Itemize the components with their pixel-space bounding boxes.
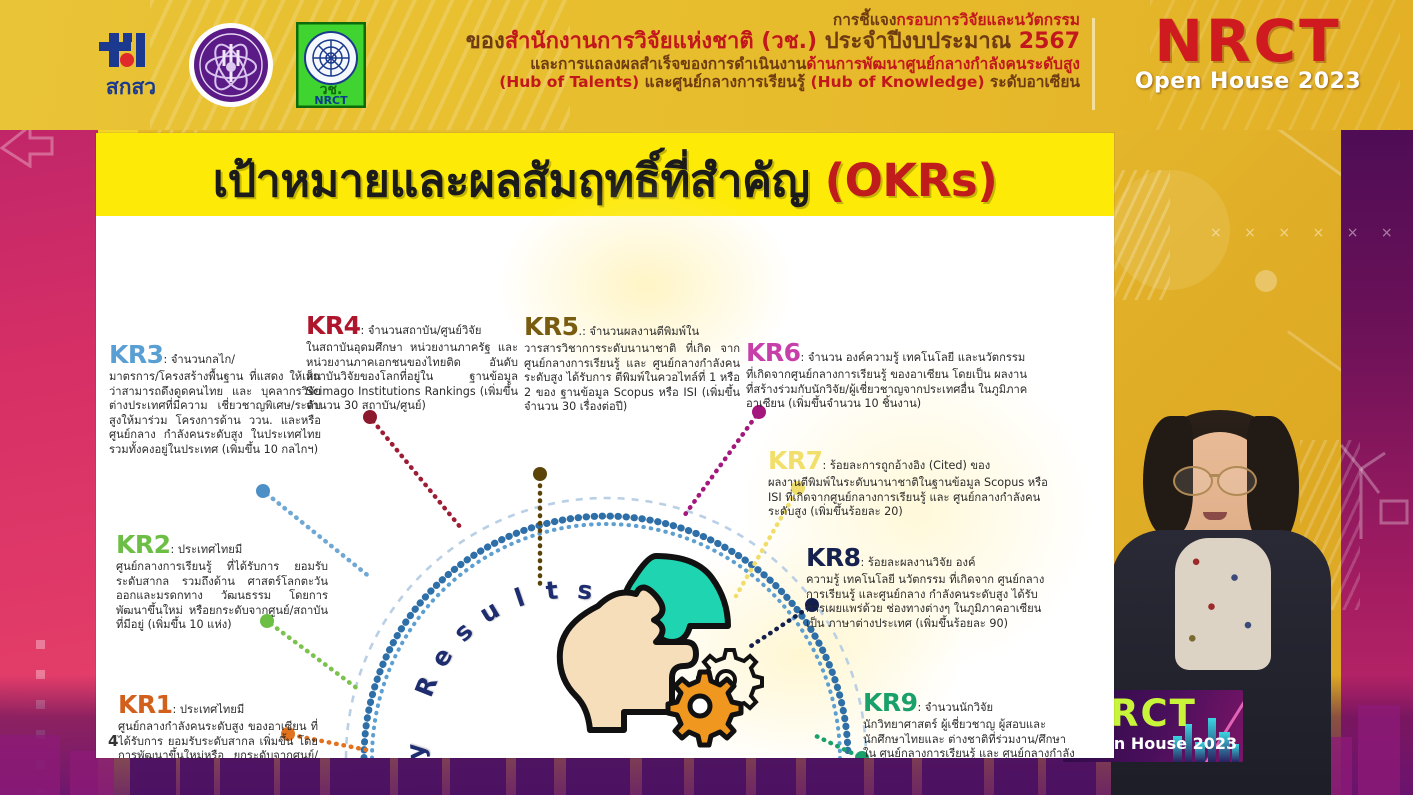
kr4-lead: : จำนวนสถาบัน/ศูนย์วิจัย (361, 324, 482, 337)
key-results-graphic: Key Results (426, 516, 786, 758)
kr-block-kr8: KR8: ร้อยละผลงานวิจัย องค์ ความรู้ เทคโน… (806, 543, 1046, 631)
header-line3-plain: และการแถลงผลสำเร็จของการดำเนินงาน (530, 55, 806, 73)
kr-block-kr9: KR9: จำนวนนักวิจัย นักวิทยาศาสตร์ ผู้เชี… (863, 688, 1078, 758)
header-line2-plain: ของ (466, 29, 505, 54)
kr3-tag: KR3 (109, 340, 164, 369)
kr9-lead: : จำนวนนักวิจัย (918, 701, 994, 714)
header-line4-red2: (Hub of Knowledge) (811, 73, 985, 91)
header-line1-plain: การชี้แจง (833, 11, 897, 29)
header-title-block: การชี้แจงกรอบการวิจัยและนวัตกรรม ของสำนั… (420, 11, 1080, 91)
nrct-brand-main: NRCT (1098, 14, 1398, 69)
decor-x-row: × × × × × × (1210, 225, 1402, 241)
presenter-glasses-right (1217, 466, 1257, 496)
header-line-1: การชี้แจงกรอบการวิจัยและนวัตกรรม (420, 11, 1080, 29)
kr9-body: นักวิทยาศาสตร์ ผู้เชี่ยวชาญ ผู้สอบและนัก… (863, 718, 1078, 758)
kr-block-kr3: KR3: จำนวนกลไก/ มาตรการ/โครงสร้างพื้นฐาน… (109, 340, 321, 457)
header-line-3: และการแถลงผลสำเร็จของการดำเนินงานด้านการ… (420, 55, 1080, 73)
kr9-tag: KR9 (863, 688, 918, 717)
gear-icon (668, 672, 741, 745)
header-line4-red: (Hub of Talents) (499, 73, 639, 91)
presenter-glasses-left (1173, 466, 1213, 496)
nrct-seal-logo (188, 22, 274, 112)
presenter-scarf (1175, 538, 1271, 670)
kr5-body: วารสารวิชาการระดับนานาชาติ ที่เกิด จากศู… (524, 342, 740, 415)
header-line2-red: สำนักงานการวิจัยแห่งชาติ (วช.) (505, 29, 817, 54)
header-line4-plain: และศูนย์กลางการเรียนรู้ (639, 73, 810, 91)
kr7-lead: : ร้อยละการถูกอ้างอิง (Cited) ของ (823, 459, 991, 472)
key-results-letter: u (474, 595, 504, 629)
kr1-lead: : ประเทศไทยมี (173, 703, 245, 716)
kr6-lead: : จำนวน องค์ความรู้ เทคโนโลยี และนวัตกรร… (801, 351, 1026, 364)
header-line-4: (Hub of Talents) และศูนย์กลางการเรียนรู้… (420, 73, 1080, 91)
header-line4-plain2: ระดับอาเซียน (985, 73, 1080, 91)
kr3-lead: : จำนวนกลไก/ (164, 353, 236, 366)
kr8-tag: KR8 (806, 543, 861, 572)
key-results-letter: e (425, 642, 459, 672)
svg-text:NRCT: NRCT (314, 94, 348, 107)
kr-block-kr2: KR2: ประเทศไทยมี ศูนย์กลางการเรียนรู้ ที… (116, 530, 328, 633)
kr7-tag: KR7 (768, 446, 823, 475)
tsri-logo: สกสว (96, 29, 166, 105)
header-nrct-brand: NRCT Open House 2023 (1098, 14, 1398, 94)
kr1-body: ศูนย์กลางกำลังคนระดับสูง ของอาเซียน ที่ไ… (118, 720, 318, 758)
decor-circle (1255, 270, 1277, 292)
kr-block-kr6: KR6: จำนวน องค์ความรู้ เทคโนโลยี และนวัต… (746, 338, 1031, 412)
kr3-body: มาตรการ/โครงสร้างพื้นฐาน ที่แสดง ให้เห็น… (109, 370, 321, 457)
page-number: 4 (108, 732, 118, 750)
kr-block-kr7: KR7: ร้อยละการถูกอ้างอิง (Cited) ของ ผลง… (768, 446, 1064, 520)
kr-block-kr4: KR4: จำนวนสถาบัน/ศูนย์วิจัย ในสถาบันอุดม… (306, 311, 518, 414)
kr7-body: ผลงานตีพิมพ์ในระดับนานาชาติในฐานข้อมูล S… (768, 476, 1064, 520)
slide-content: KR3: จำนวนกลไก/ มาตรการ/โครงสร้างพื้นฐาน… (96, 216, 1114, 758)
svg-text:สกสว: สกสว (106, 75, 156, 99)
broadcast-screen: × × × × × × (0, 0, 1413, 795)
header-line-2: ของสำนักงานการวิจัยแห่งชาติ (วช.) ประจำป… (420, 29, 1080, 55)
nrct-brand-sub: Open House 2023 (1098, 69, 1398, 94)
header-line3-red: ด้านการพัฒนาศูนย์กลางกำลังคนระดับสูง (806, 55, 1080, 73)
header-line1-red: กรอบการวิจัยและนวัตกรรม (896, 11, 1080, 29)
key-results-letter: y (401, 743, 431, 758)
kr2-lead: : ประเทศไทยมี (171, 543, 243, 556)
kr6-tag: KR6 (746, 338, 801, 367)
kr1-tag: KR1 (118, 690, 173, 719)
presentation-slide: เป้าหมายและผลสัมฤทธิ์ที่สำคัญ (OKRs) (96, 133, 1114, 758)
header-line2-year: 2567 (1019, 29, 1080, 54)
header-logo-group: สกสว (96, 22, 366, 112)
header-line2-plain2: ประจำปีงบประมาณ (817, 29, 1019, 54)
kr5-tag: KR5 (524, 312, 579, 341)
nrct-green-logo: วช. NRCT (296, 22, 366, 112)
slide-title-okr: (OKRs) (825, 154, 998, 207)
kr4-tag: KR4 (306, 311, 361, 340)
kr-block-kr5: KR5.: จำนวนผลงานตีพิมพ์ใน วารสารวิชาการร… (524, 312, 740, 415)
kr4-body: ในสถาบันอุดมศึกษา หน่วยงานภาครัฐ และหน่ว… (306, 341, 518, 414)
kr6-body: ที่เกิดจากศูนย์กลางการเรียนรู้ ของอาเซีย… (746, 368, 1031, 412)
kr2-tag: KR2 (116, 530, 171, 559)
kr8-lead: : ร้อยละผลงานวิจัย องค์ (861, 556, 976, 569)
key-results-letter: s (448, 616, 479, 647)
kr8-body: ความรู้ เทคโนโลยี นวัตกรรม ที่เกิดจาก ศู… (806, 573, 1046, 631)
presenter-glasses-bridge (1209, 474, 1219, 477)
kr5-lead: .: จำนวนผลงานตีพิมพ์ใน (579, 325, 700, 338)
kr2-body: ศูนย์กลางการเรียนรู้ ที่ได้รับการ ยอมรับ… (116, 560, 328, 633)
header-divider (1092, 18, 1095, 110)
kr-block-kr1: KR1: ประเทศไทยมี ศูนย์กลางกำลังคนระดับสู… (118, 690, 318, 758)
